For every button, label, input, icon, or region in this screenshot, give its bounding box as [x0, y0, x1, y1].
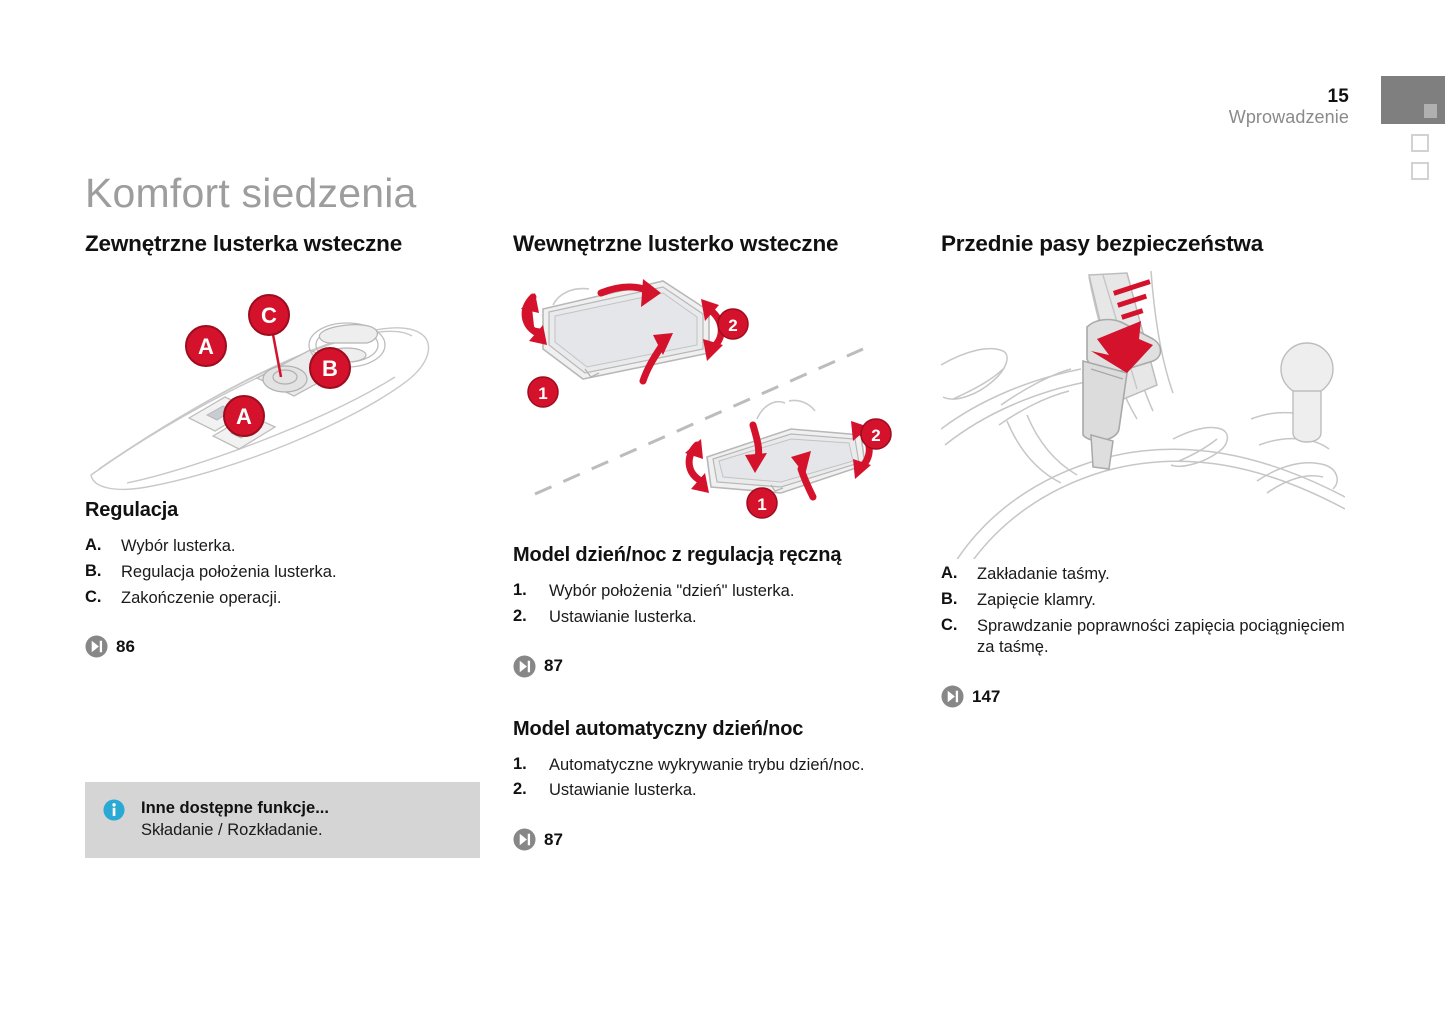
page-reference-number: 87: [544, 656, 563, 676]
list-item-text: Sprawdzanie poprawności zapięcia pociągn…: [977, 616, 1345, 660]
tab-markers: [1381, 76, 1445, 180]
subheading-regulacja: Regulacja: [85, 499, 485, 522]
callout-badge-c: C: [249, 295, 289, 335]
column-interior-mirror: Wewnętrzne lusterko wsteczne: [513, 231, 913, 851]
list-item-text: Zakończenie operacji.: [121, 588, 282, 610]
list-item-key: 1.: [513, 581, 549, 600]
door-mirror-controls-illustration: A C A B: [85, 269, 485, 499]
list-item-key: 2.: [513, 780, 549, 799]
list-item: B. Zapięcie klamry.: [941, 590, 1345, 612]
callout-badge-1-upper: 1: [528, 377, 558, 407]
list-item-text: Wybór lusterka.: [121, 536, 235, 558]
list-item-key: A.: [941, 564, 977, 583]
page-reference-number: 86: [116, 637, 135, 657]
column-heading-front-seatbelts: Przednie pasy bezpieczeństwa: [941, 231, 1345, 257]
interior-rearview-mirror-illustration: 1 2: [513, 269, 913, 544]
list-item-key: C.: [85, 588, 121, 607]
list-item-text: Regulacja położenia lusterka.: [121, 562, 337, 584]
page-reference-87-automatic[interactable]: 87: [513, 828, 913, 851]
svg-text:1: 1: [757, 495, 766, 514]
page-reference-icon: [513, 655, 536, 678]
svg-text:A: A: [198, 334, 214, 359]
list-item-key: B.: [941, 590, 977, 609]
list-manual-day-night: 1. Wybór położenia "dzień" lusterka. 2. …: [513, 581, 913, 629]
list-seatbelt-items: A. Zakładanie taśmy. B. Zapięcie klamry.…: [941, 564, 1345, 659]
page-reference-number: 147: [972, 687, 1000, 707]
column-front-seatbelts: Przednie pasy bezpieczeństwa: [941, 231, 1345, 708]
list-item: C. Sprawdzanie poprawności zapięcia poci…: [941, 616, 1345, 660]
page-reference-icon: [513, 828, 536, 851]
callout-badge-a-left: A: [186, 326, 226, 366]
page-reference-number: 87: [544, 830, 563, 850]
page-reference-icon: [941, 685, 964, 708]
svg-text:B: B: [322, 356, 338, 381]
page-reference-87-manual[interactable]: 87: [513, 655, 913, 678]
page-number: 15: [1229, 86, 1349, 107]
list-item: C. Zakończenie operacji.: [85, 588, 485, 610]
list-item: B. Regulacja położenia lusterka.: [85, 562, 485, 584]
callout-badge-a-bottom: A: [224, 396, 264, 436]
list-item-text: Wybór położenia "dzień" lusterka.: [549, 581, 794, 603]
front-seatbelt-buckle-svg: [941, 269, 1345, 559]
front-seatbelt-buckle-illustration: [941, 269, 1341, 564]
active-tab-marker[interactable]: [1381, 76, 1445, 124]
list-item: 2. Ustawianie lusterka.: [513, 607, 913, 629]
list-item-key: 2.: [513, 607, 549, 626]
list-item: A. Wybór lusterka.: [85, 536, 485, 558]
info-box-text: Składanie / Rozkładanie.: [141, 819, 329, 842]
column-heading-interior-mirror: Wewnętrzne lusterko wsteczne: [513, 231, 913, 257]
callout-badge-b: B: [310, 348, 350, 388]
list-item-key: 1.: [513, 755, 549, 774]
list-exterior-mirror-items: A. Wybór lusterka. B. Regulacja położeni…: [85, 536, 485, 609]
list-item: 1. Automatyczne wykrywanie trybu dzień/n…: [513, 755, 913, 777]
list-item-text: Automatyczne wykrywanie trybu dzień/noc.: [549, 755, 864, 777]
empty-tab-marker-1[interactable]: [1411, 134, 1429, 152]
list-item-text: Zapięcie klamry.: [977, 590, 1096, 612]
door-mirror-controls-svg: A C A B: [85, 269, 485, 494]
list-item-text: Zakładanie taśmy.: [977, 564, 1110, 586]
page-title: Komfort siedzenia: [85, 170, 417, 217]
page-reference-147[interactable]: 147: [941, 685, 1345, 708]
svg-text:2: 2: [871, 426, 880, 445]
list-item-key: C.: [941, 616, 977, 635]
section-name: Wprowadzenie: [1229, 107, 1349, 127]
svg-text:A: A: [236, 404, 252, 429]
list-item-key: A.: [85, 536, 121, 555]
empty-tab-marker-2[interactable]: [1411, 162, 1429, 180]
callout-badge-1-lower: 1: [747, 488, 777, 518]
page-reference-86[interactable]: 86: [85, 635, 485, 658]
callout-badge-2-lower: 2: [861, 419, 891, 449]
column-exterior-mirrors: Zewnętrzne lusterka wsteczne: [85, 231, 485, 658]
column-heading-exterior-mirrors: Zewnętrzne lusterka wsteczne: [85, 231, 485, 257]
info-box-other-functions: Inne dostępne funkcje... Składanie / Roz…: [85, 782, 480, 858]
list-item-text: Ustawianie lusterka.: [549, 607, 697, 629]
interior-rearview-mirror-svg: 1 2: [513, 269, 913, 539]
list-item-text: Ustawianie lusterka.: [549, 780, 697, 802]
svg-text:1: 1: [538, 384, 547, 403]
svg-text:2: 2: [728, 316, 737, 335]
list-automatic-day-night: 1. Automatyczne wykrywanie trybu dzień/n…: [513, 755, 913, 803]
svg-text:C: C: [261, 303, 277, 328]
list-item: 2. Ustawianie lusterka.: [513, 780, 913, 802]
info-box-title: Inne dostępne funkcje...: [141, 797, 329, 819]
info-icon: [103, 799, 125, 821]
section-spacer: [513, 678, 913, 718]
subheading-manual-day-night: Model dzień/noc z regulacją ręczną: [513, 544, 913, 567]
page-reference-icon: [85, 635, 108, 658]
list-item: A. Zakładanie taśmy.: [941, 564, 1345, 586]
page-header: 15 Wprowadzenie: [1229, 86, 1349, 127]
list-item-key: B.: [85, 562, 121, 581]
active-tab-inner-square: [1424, 104, 1437, 118]
callout-badge-2-upper: 2: [718, 309, 748, 339]
list-item: 1. Wybór położenia "dzień" lusterka.: [513, 581, 913, 603]
subheading-automatic-day-night: Model automatyczny dzień/noc: [513, 718, 913, 741]
